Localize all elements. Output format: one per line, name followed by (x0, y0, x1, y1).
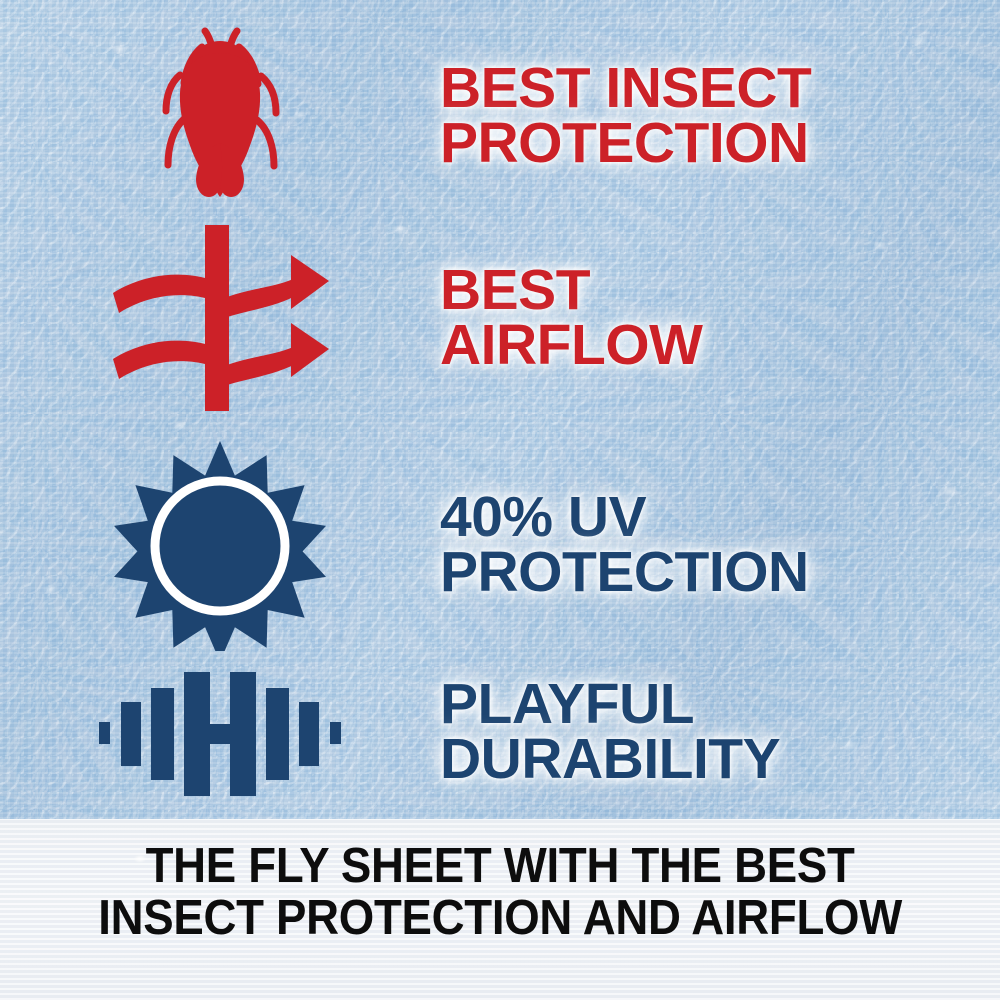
feature-label-airflow: BEST AIRFLOW (440, 263, 1000, 372)
feature-icon-cell-uv (0, 439, 440, 651)
feature-row-insect-protection: BEST INSECT PROTECTION (0, 18, 1000, 213)
feature-label-uv-protection: 40% UV PROTECTION (440, 490, 1000, 599)
banner-headline: THE FLY SHEET WITH THE BEST INSECT PROTE… (98, 841, 902, 945)
airflow-arrows-icon (105, 223, 335, 413)
feature-label-insect-protection: BEST INSECT PROTECTION (440, 61, 1000, 170)
product-feature-poster: BEST INSECT PROTECTION BEST AIRFLOW (0, 0, 1000, 1000)
feature-text-cell-insect: BEST INSECT PROTECTION (440, 61, 1000, 170)
feature-icon-cell-durability (0, 666, 440, 798)
bottom-banner: THE FLY SHEET WITH THE BEST INSECT PROTE… (0, 819, 1000, 1000)
feature-row-airflow: BEST AIRFLOW (0, 218, 1000, 418)
feature-icon-cell-insect (0, 23, 440, 208)
fly-icon (140, 23, 300, 208)
feature-row-durability: PLAYFUL DURABILITY (0, 652, 1000, 812)
feature-text-cell-durability: PLAYFUL DURABILITY (440, 677, 1000, 786)
feature-row-uv-protection: 40% UV PROTECTION (0, 432, 1000, 657)
feature-label-durability: PLAYFUL DURABILITY (440, 677, 1000, 786)
dumbbell-icon (89, 666, 351, 798)
feature-text-cell-airflow: BEST AIRFLOW (440, 263, 1000, 372)
feature-icon-cell-airflow (0, 223, 440, 413)
feature-text-cell-uv: 40% UV PROTECTION (440, 490, 1000, 599)
sun-icon (114, 439, 326, 651)
